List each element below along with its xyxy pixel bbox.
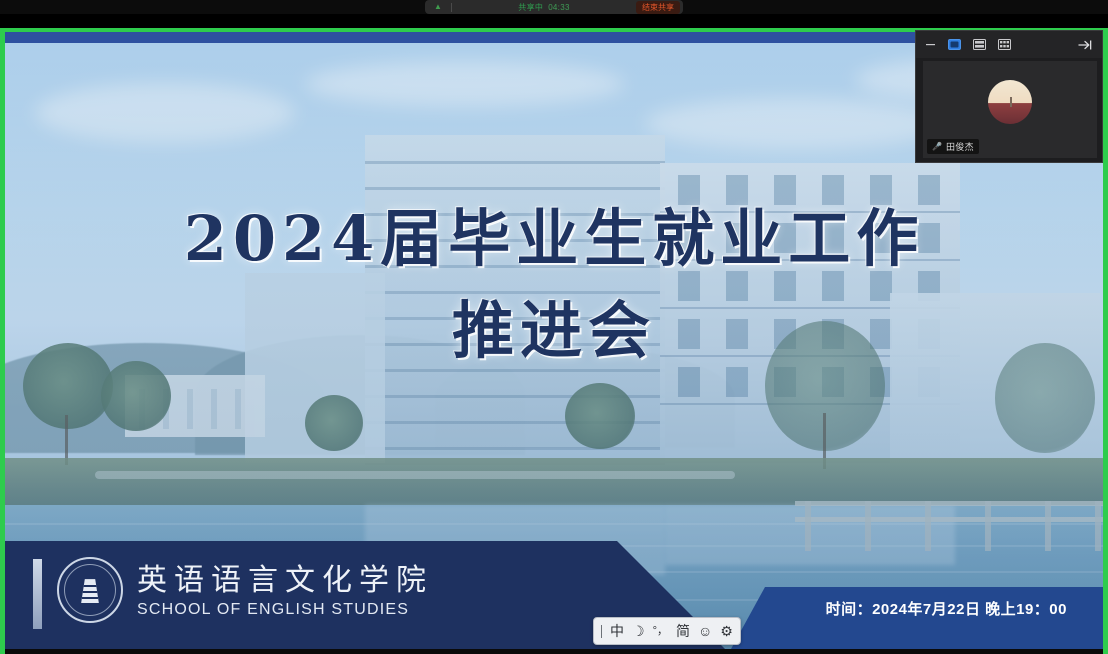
slide-title-line-2: 推进会 xyxy=(5,285,1103,377)
screen-share-icon[interactable]: ▲ xyxy=(425,0,451,14)
footer-accent-bar xyxy=(33,559,42,629)
split-view-icon[interactable] xyxy=(973,39,986,50)
ime-emoji-icon[interactable]: ☺ xyxy=(698,618,712,644)
meeting-share-toolbar: ▲ 共享中 04:33 结束共享 xyxy=(0,0,1108,14)
ime-punctuation-toggle[interactable]: °， xyxy=(653,618,668,644)
slide-title: 2024届毕业生就业工作 推进会 xyxy=(5,193,1103,377)
ime-simplified-toggle[interactable]: 简 xyxy=(676,618,690,644)
video-panel-toolbar xyxy=(916,31,1102,58)
participant-nametag: 🎤 田俊杰 xyxy=(927,139,979,154)
collapse-right-icon[interactable] xyxy=(1078,39,1093,51)
minimize-icon[interactable] xyxy=(925,39,936,50)
slide-title-line-1: 2024届毕业生就业工作 xyxy=(5,193,1103,285)
ime-toolbar[interactable]: 中 ☽ °， 简 ☺ ⚙ xyxy=(593,617,741,645)
screen-root: ▲ 共享中 04:33 结束共享 xyxy=(0,0,1108,654)
video-stage[interactable]: 🎤 田俊杰 xyxy=(923,61,1097,158)
school-emblem-icon xyxy=(57,557,123,623)
share-status-label: 共享中 xyxy=(518,2,543,13)
share-status-pill: ▲ 共享中 04:33 结束共享 xyxy=(425,0,683,14)
emblem-gate-shape xyxy=(77,577,103,603)
ime-language-chinese[interactable]: 中 xyxy=(610,618,624,644)
ime-moon-icon[interactable]: ☽ xyxy=(632,618,645,644)
school-identity: 英语语言文化学院 SCHOOL OF ENGLISH STUDIES xyxy=(137,563,433,621)
speaker-view-icon[interactable] xyxy=(948,39,961,50)
participant-avatar xyxy=(988,80,1032,124)
microphone-icon: 🎤 xyxy=(932,142,942,151)
share-timer: 04:33 xyxy=(548,3,570,12)
participant-name: 田俊杰 xyxy=(946,140,974,153)
slide-footer: 英语语言文化学院 SCHOOL OF ENGLISH STUDIES 时间：20… xyxy=(5,541,1103,649)
gallery-view-icon[interactable] xyxy=(998,39,1011,50)
video-thumbnail-panel[interactable]: 🎤 田俊杰 xyxy=(915,30,1103,163)
slide-time-text: 时间：2024年7月22日 晚上19：00 xyxy=(826,598,1067,619)
school-name-en: SCHOOL OF ENGLISH STUDIES xyxy=(137,599,433,621)
ime-cursor-indicator xyxy=(601,625,602,638)
share-status-group: 共享中 04:33 xyxy=(452,2,636,13)
school-name-cn: 英语语言文化学院 xyxy=(137,563,433,599)
end-share-button[interactable]: 结束共享 xyxy=(636,1,680,14)
ime-settings-icon[interactable]: ⚙ xyxy=(720,618,733,644)
